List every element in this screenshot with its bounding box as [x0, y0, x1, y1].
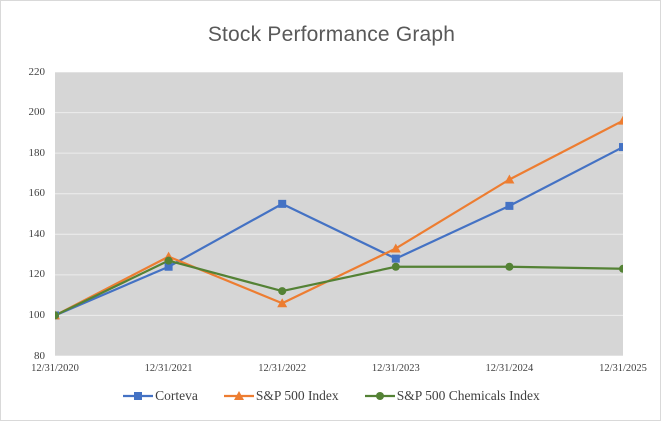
- data-point-marker: [618, 116, 623, 125]
- x-axis-tick-label: 12/31/2024: [459, 364, 559, 375]
- series-line: [55, 121, 623, 316]
- y-axis-tick-label: 140: [1, 229, 45, 240]
- legend-item[interactable]: S&P 500 Chemicals Index: [365, 389, 540, 403]
- legend-marker-icon: [224, 390, 254, 402]
- chart-title: Stock Performance Graph: [1, 23, 661, 47]
- x-axis-tick-label: 12/31/2025: [573, 364, 661, 375]
- data-point-marker: [619, 265, 623, 273]
- plot-area: [55, 72, 623, 356]
- y-axis-tick-label: 120: [1, 269, 45, 280]
- legend-marker-icon: [365, 390, 395, 402]
- legend-item[interactable]: Corteva: [123, 389, 198, 403]
- series-line: [55, 147, 623, 315]
- y-axis-tick-label: 160: [1, 188, 45, 199]
- y-axis-tick-label: 80: [1, 351, 45, 362]
- x-axis-tick-label: 12/31/2022: [232, 364, 332, 375]
- data-point-marker: [376, 392, 384, 400]
- data-point-marker: [392, 263, 400, 271]
- data-point-marker: [504, 175, 514, 184]
- legend-marker-icon: [123, 390, 153, 402]
- legend-item[interactable]: S&P 500 Index: [224, 389, 339, 403]
- y-axis-tick-label: 200: [1, 107, 45, 118]
- data-point-marker: [391, 243, 401, 252]
- stock-performance-chart: Stock Performance Graph 2202001801601401…: [0, 0, 661, 421]
- data-point-marker: [165, 257, 173, 265]
- chart-legend: CortevaS&P 500 IndexS&P 500 Chemicals In…: [1, 389, 661, 403]
- data-point-marker: [278, 287, 286, 295]
- data-point-marker: [505, 202, 513, 210]
- data-point-marker: [392, 255, 400, 263]
- y-axis-tick-label: 220: [1, 67, 45, 78]
- data-point-marker: [134, 392, 142, 400]
- data-point-marker: [619, 143, 623, 151]
- y-axis-tick-label: 180: [1, 148, 45, 159]
- legend-item-label: S&P 500 Chemicals Index: [397, 389, 540, 403]
- y-axis-tick-label: 100: [1, 310, 45, 321]
- data-point-marker: [505, 263, 513, 271]
- legend-item-label: S&P 500 Index: [256, 389, 339, 403]
- x-axis-tick-label: 12/31/2023: [346, 364, 446, 375]
- legend-item-label: Corteva: [155, 389, 198, 403]
- x-axis-tick-label: 12/31/2021: [119, 364, 219, 375]
- x-axis-tick-label: 12/31/2020: [5, 364, 105, 375]
- series-line: [55, 261, 623, 316]
- data-point-marker: [278, 200, 286, 208]
- plot-svg: [55, 72, 623, 356]
